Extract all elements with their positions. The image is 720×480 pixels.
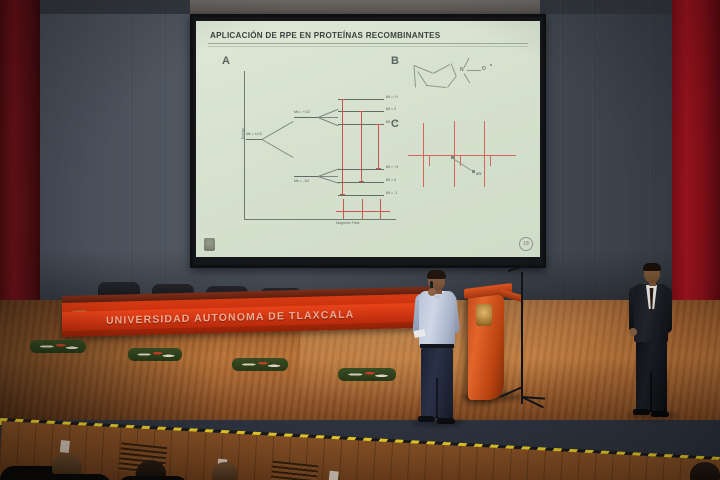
- molecule-bond-no: [467, 70, 481, 71]
- panel-a-spectrum-line: [343, 199, 344, 219]
- molecule-bond: [451, 63, 457, 76]
- panel-a-mi-level: [338, 182, 384, 183]
- panel-a-y-axis: [244, 71, 245, 219]
- panel-c-marker: [472, 170, 475, 173]
- attendee-leg-split: [650, 372, 652, 412]
- panel-a-hf-up-3: [318, 117, 339, 126]
- molecule-bond: [426, 85, 446, 88]
- presenter-hair: [427, 270, 446, 279]
- panel-a-transition-arrow: [361, 111, 362, 182]
- attendee-hand: [629, 328, 637, 336]
- audience-member: [212, 462, 238, 480]
- panel-a-ms-upper-level: [294, 117, 318, 118]
- panel-a-mi-level: [338, 195, 384, 196]
- presenter-shoe: [418, 416, 435, 422]
- floral-arrangement: [232, 358, 288, 371]
- atom-nitrogen: N: [460, 67, 464, 73]
- panel-a-split-down: [262, 139, 294, 158]
- slide-title-rule-2: [208, 46, 528, 47]
- panel-a-ms-lower-level: [294, 176, 318, 177]
- lectern-crest-icon: [476, 304, 492, 326]
- panel-a-transition-arrow: [378, 124, 379, 169]
- attendee-shoe: [651, 411, 669, 417]
- panel-a-mi-lower-3: MI = -1: [386, 191, 397, 195]
- presenter-shoe: [437, 418, 455, 424]
- molecule-bond: [417, 71, 427, 86]
- slide-page-number: 18: [519, 237, 533, 251]
- panel-a-mi-upper-2: MI = 0: [386, 107, 396, 111]
- attendee-shoe: [633, 409, 650, 415]
- molecule-methyl-bond: [464, 58, 470, 68]
- attendee-hair: [643, 263, 661, 271]
- floral-arrangement: [30, 340, 86, 353]
- panel-c-peak: [423, 123, 424, 187]
- projection-screen: APLICACIÓN DE RPE EN PROTEÍNAS RECOMBINA…: [190, 14, 546, 268]
- molecule-bond: [414, 65, 417, 87]
- panel-a-mi-lower-1: MI = +1: [386, 165, 398, 169]
- table-banner: UNIVERSIDAD AUTONOMA DE TLAXCALA: [62, 303, 430, 331]
- stage-panel-plaque: [60, 440, 70, 453]
- panel-a-spectrum-line: [380, 199, 381, 219]
- panel-c-peak: [484, 121, 485, 187]
- floral-arrangement: [128, 348, 182, 361]
- presenter-leg-split: [436, 378, 438, 419]
- panel-c-annotation-label: aN: [476, 171, 481, 176]
- panel-a-x-axis: [244, 219, 396, 220]
- curtain-red-right: [672, 0, 720, 300]
- curtain-red-left: [0, 0, 40, 300]
- atom-oxygen: O: [482, 66, 486, 72]
- panel-a-ms-upper-label: Ms = +1/2: [294, 110, 310, 114]
- panel-a-x-label: Magnetic Field: [336, 221, 359, 225]
- radical-dot-icon: [490, 64, 492, 66]
- panel-a-origin-label: Ms = ±1/2: [246, 132, 262, 136]
- slide-title: APLICACIÓN DE RPE EN PROTEÍNAS RECOMBINA…: [210, 31, 440, 40]
- audience-member: [36, 474, 112, 480]
- panel-a-mi-lower-2: MI = 0: [386, 178, 396, 182]
- panel-a-y-label: Energy: [241, 128, 245, 139]
- panel-a-origin-level: [246, 139, 262, 140]
- molecule-bond: [433, 64, 450, 74]
- auditorium-scene: APLICACIÓN DE RPE EN PROTEÍNAS RECOMBINA…: [0, 0, 720, 480]
- floral-arrangement: [338, 368, 396, 381]
- presenter-hand: [428, 288, 436, 296]
- presentation-slide: APLICACIÓN DE RPE EN PROTEÍNAS RECOMBINA…: [196, 21, 540, 257]
- molecule-bond: [447, 76, 456, 88]
- stage-vent-grille: [270, 461, 319, 480]
- stage-panel-plaque: [329, 471, 339, 480]
- panel-c-letter: C: [391, 118, 399, 130]
- panel-a-hf-dn-3: [318, 176, 339, 184]
- panel-a-spectrum-baseline: [336, 211, 390, 212]
- panel-c-trough: [429, 155, 430, 166]
- audience-member: [118, 476, 188, 480]
- panel-a-letter: A: [222, 55, 230, 67]
- panel-a-split-up: [262, 121, 294, 140]
- panel-a-transition-arrow: [342, 99, 343, 195]
- panel-a-ms-lower-label: Ms = -1/2: [294, 179, 309, 183]
- panel-c-trough: [490, 155, 491, 166]
- presenter-torso: [419, 291, 455, 347]
- panel-c-peak: [454, 121, 455, 187]
- panel-b-letter: B: [391, 55, 399, 67]
- panel-c-annotation-leader: [453, 158, 472, 171]
- microphone-stand: [521, 272, 523, 404]
- banner-text: UNIVERSIDAD AUTONOMA DE TLAXCALA: [62, 308, 354, 327]
- molecule-methyl-bond: [464, 73, 471, 83]
- institution-logo-icon: [204, 238, 215, 251]
- presenter-belt: [420, 344, 454, 348]
- panel-a-spectrum-line: [362, 199, 363, 219]
- slide-title-rule: [208, 43, 528, 44]
- panel-a-mi-upper-1: MI = +1: [386, 95, 398, 99]
